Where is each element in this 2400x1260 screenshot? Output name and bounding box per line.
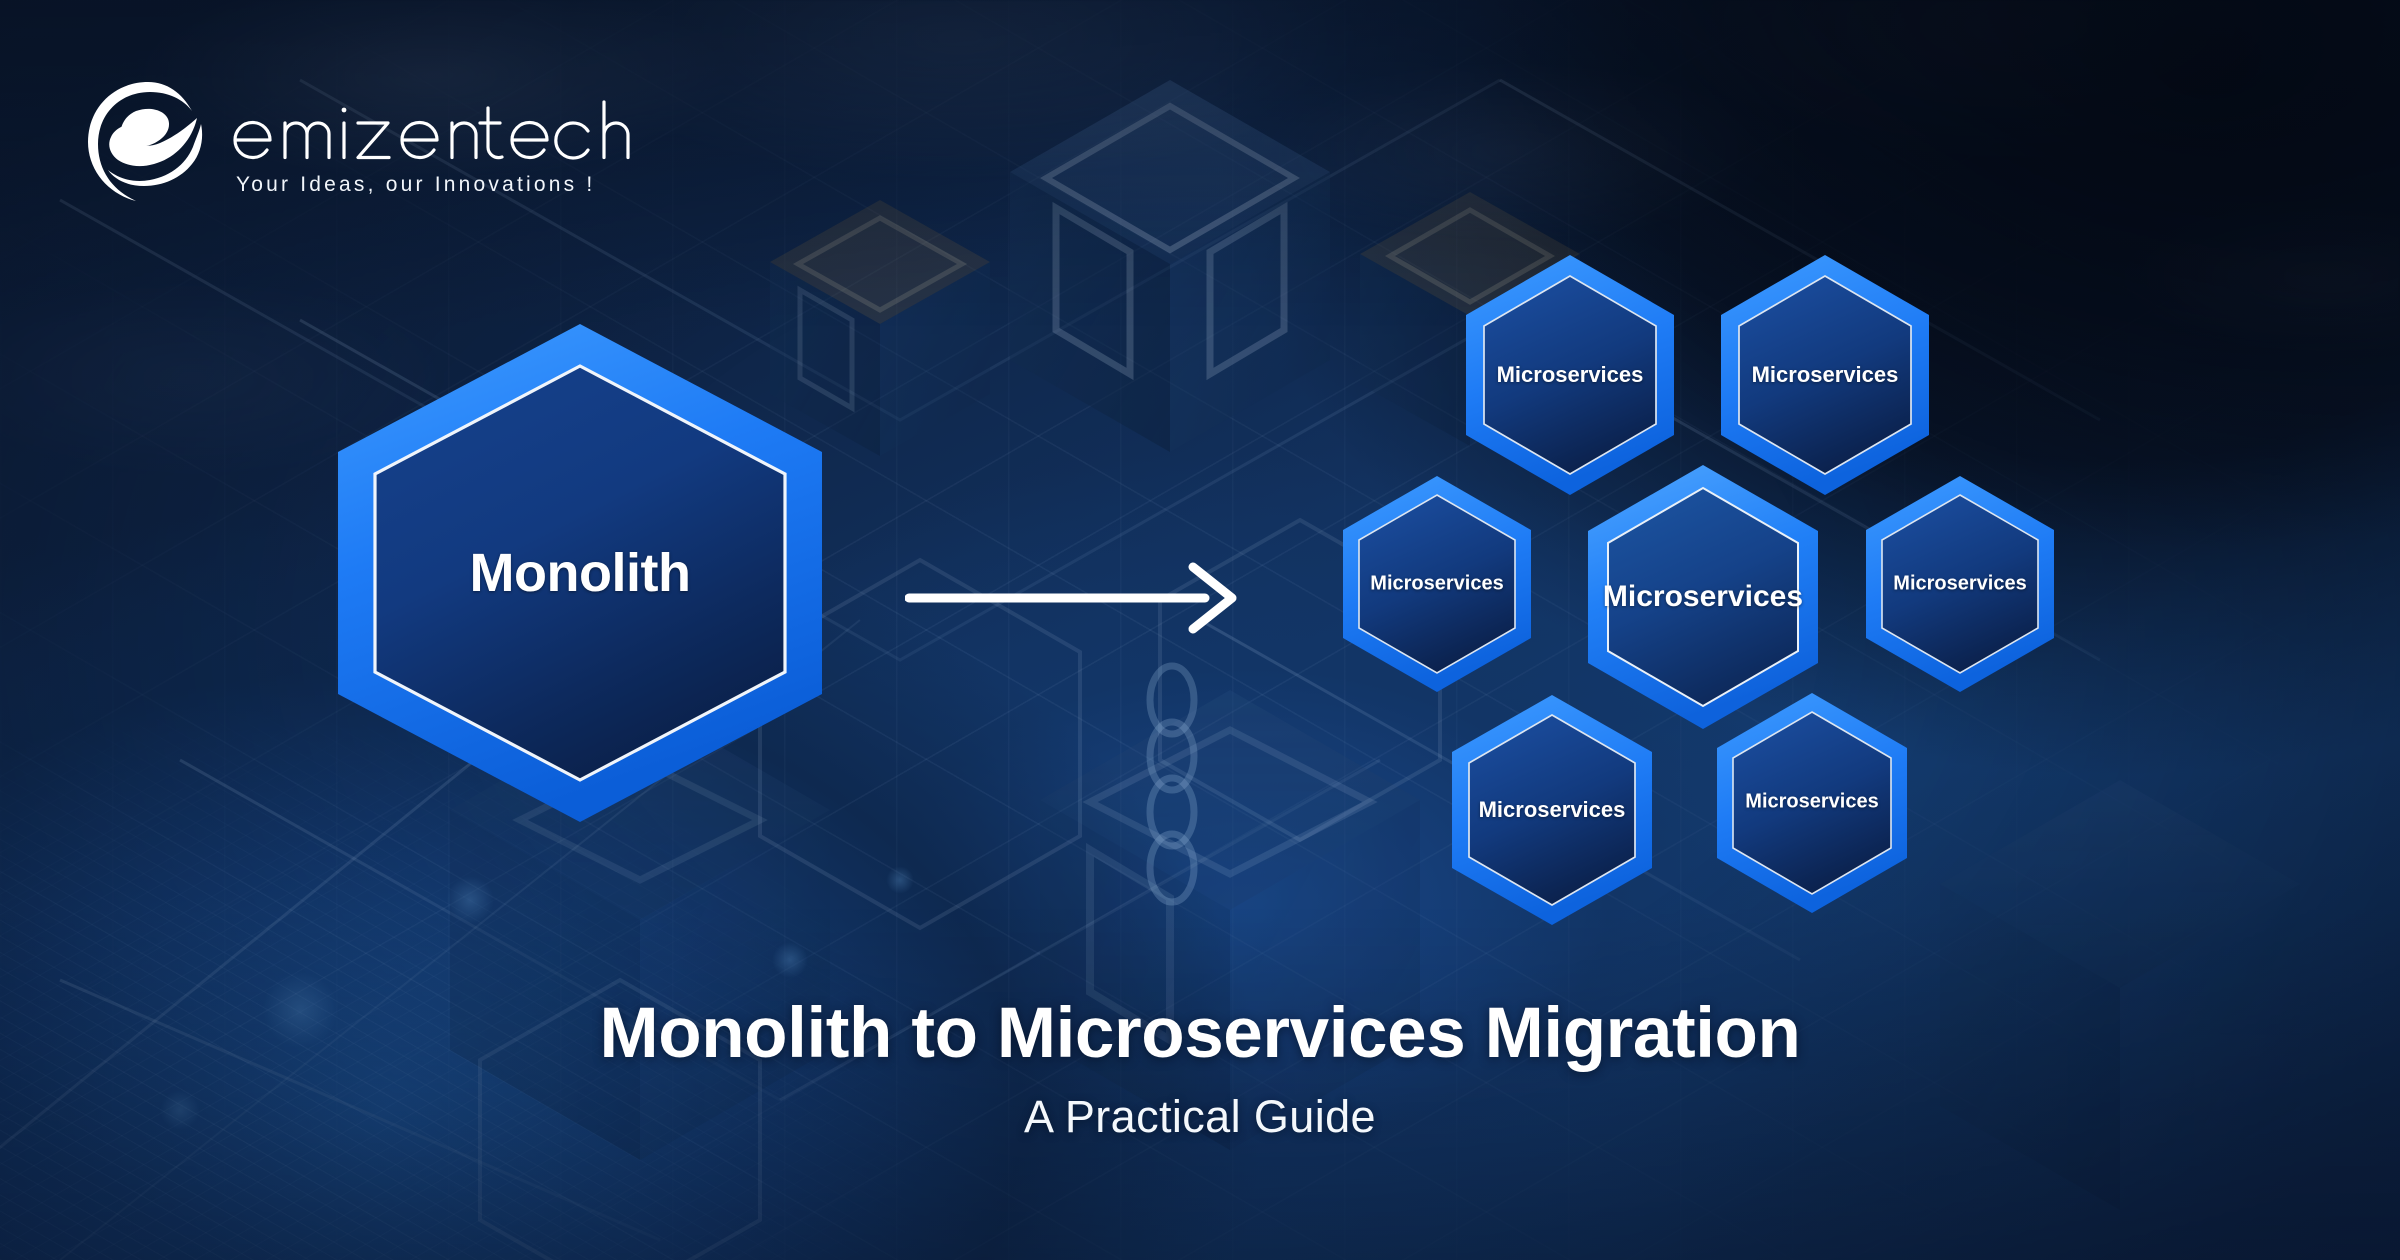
page-title: Monolith to Microservices Migration bbox=[0, 996, 2400, 1071]
emizentech-e-swoosh-logo-icon bbox=[84, 78, 212, 206]
emizentech-wordmark-icon bbox=[230, 94, 638, 168]
brand-tagline: Your Ideas, our Innovations ! bbox=[236, 173, 638, 197]
monolith-hexagon[interactable]: Monolith bbox=[330, 318, 830, 828]
microservices-hexagon-middle-right[interactable]: Microservices bbox=[1849, 473, 2071, 695]
migration-arrow bbox=[905, 560, 1245, 641]
brand-logo[interactable]: Your Ideas, our Innovations ! bbox=[84, 78, 638, 206]
microservices-hexagon-middle-left[interactable]: Microservices bbox=[1326, 473, 1548, 695]
banner-canvas: Your Ideas, our Innovations ! bbox=[0, 0, 2400, 1260]
microservices-hexagon-bottom-right[interactable]: Microservices bbox=[1700, 690, 1924, 914]
footer-text-block: Monolith to Microservices Migration A Pr… bbox=[0, 996, 2400, 1143]
microservices-hexagon-bottom-left[interactable]: Microservices bbox=[1434, 692, 1670, 928]
right-arrow-icon bbox=[905, 560, 1245, 636]
page-subtitle: A Practical Guide bbox=[0, 1091, 2400, 1143]
